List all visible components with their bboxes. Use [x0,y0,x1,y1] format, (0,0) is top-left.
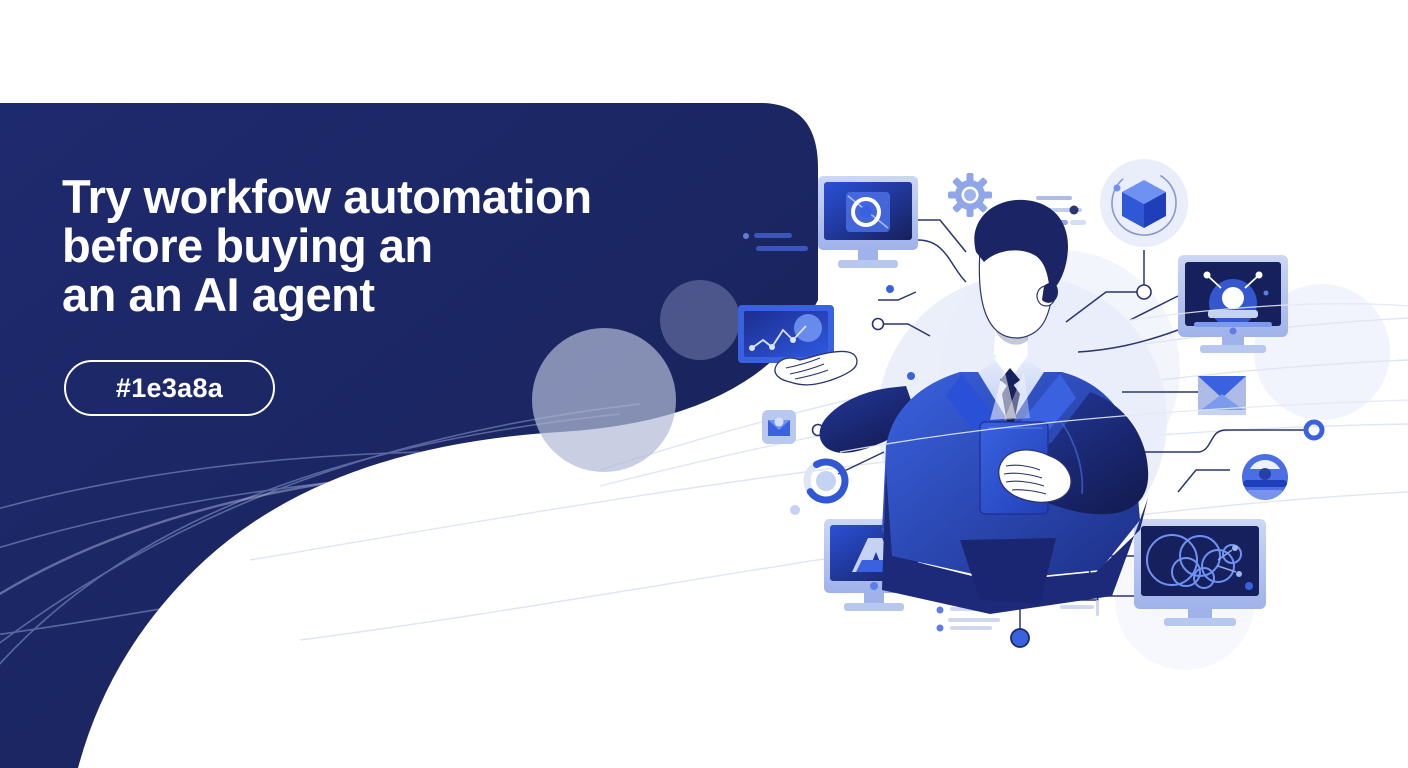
banner-graphics [0,0,1408,768]
mail-small-icon [762,410,796,444]
gear-icon [948,173,992,217]
decor-circle-small [660,280,740,360]
hero-banner: Try workfow automation before buying an … [0,0,1408,768]
